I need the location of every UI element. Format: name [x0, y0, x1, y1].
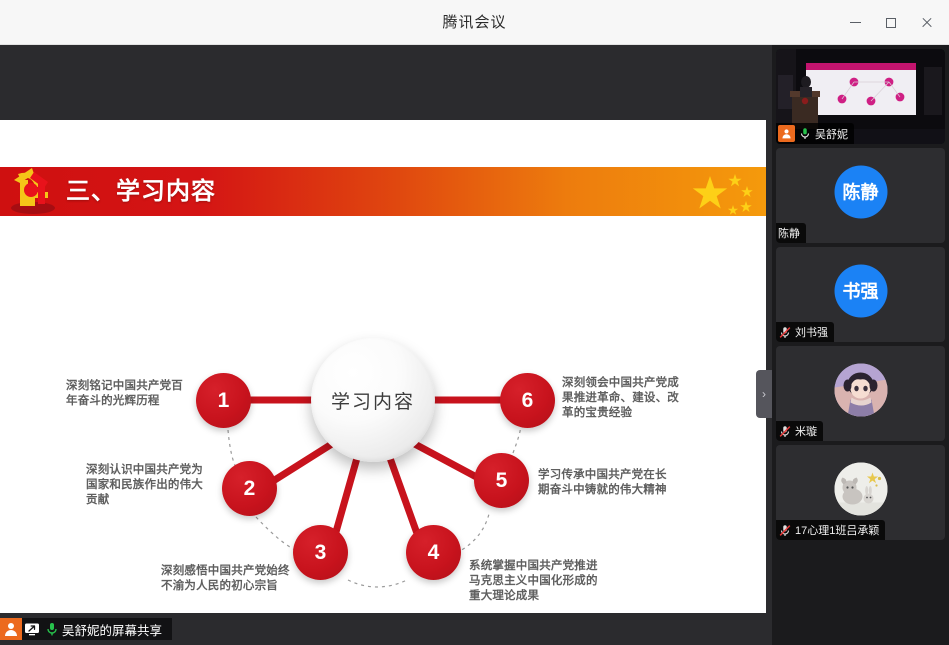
- participant-tile[interactable]: 米璇: [776, 346, 945, 441]
- shared-screen-stage[interactable]: 三、学习内容: [0, 45, 772, 645]
- mic-muted-icon: [778, 523, 792, 538]
- diagram-node-2[interactable]: 2: [222, 461, 277, 516]
- window-controls: [837, 0, 945, 45]
- close-button[interactable]: [909, 8, 945, 38]
- participant-tile[interactable]: 陈静 陈静: [776, 148, 945, 243]
- party-emblem-icon: [4, 160, 62, 218]
- screen-share-icon: [24, 621, 40, 637]
- diagram-node-4[interactable]: 4: [406, 525, 461, 580]
- minimize-icon: [850, 22, 861, 23]
- study-content-diagram: 学习内容 1 2 3 4 5 6: [0, 216, 766, 613]
- participant-name: 刘书强: [795, 324, 828, 340]
- mic-muted-icon: [778, 424, 792, 439]
- diagram-caption-5: 学习传承中国共产党在长期奋斗中铸就的伟大精神: [538, 468, 680, 498]
- presentation-slide: 三、学习内容: [0, 120, 766, 613]
- hub-label: 学习内容: [331, 387, 415, 414]
- diagram-hub: 学习内容: [311, 338, 435, 462]
- diagram-caption-1: 深刻铭记中国共产党百年奋斗的光辉历程: [66, 379, 198, 409]
- mic-on-icon: [798, 126, 812, 141]
- avatar: 书强: [834, 264, 887, 317]
- tencent-meeting-window: 腾讯会议: [0, 0, 949, 645]
- participant-name-bar: 吴舒妮: [776, 123, 854, 144]
- mic-muted-icon: [778, 325, 792, 340]
- window-title: 腾讯会议: [0, 0, 949, 45]
- host-badge-icon: [778, 125, 795, 142]
- screen-share-indicator: 吴舒妮的屏幕共享: [0, 618, 172, 640]
- participant-name-bar: 刘书强: [776, 322, 834, 342]
- node-number: 2: [244, 477, 256, 501]
- avatar: [834, 363, 887, 416]
- diagram-node-3[interactable]: 3: [293, 525, 348, 580]
- participant-name: 17心理1班吕承颖: [795, 522, 879, 538]
- avatar: 陈静: [834, 165, 887, 218]
- diagram-node-1[interactable]: 1: [196, 373, 251, 428]
- avatar: [834, 462, 887, 515]
- participant-tile[interactable]: 书强 刘书强: [776, 247, 945, 342]
- participant-name: 吴舒妮: [815, 126, 848, 142]
- mic-on-icon: [44, 621, 60, 637]
- avatar-initials: 书强: [843, 278, 879, 304]
- participant-rail[interactable]: 吴舒妮 陈静 陈静 书强 刘书强: [772, 45, 949, 645]
- diagram-caption-6: 深刻领会中国共产党成果推进革命、建设、改革的宝贵经验: [562, 376, 692, 421]
- minimize-button[interactable]: [837, 8, 873, 38]
- participant-name-bar: 17心理1班吕承颖: [776, 520, 885, 540]
- diagram-caption-3: 深刻感悟中国共产党始终不渝为人民的初心宗旨: [161, 564, 301, 594]
- avatar-initials: 陈静: [843, 179, 879, 205]
- maximize-button[interactable]: [873, 8, 909, 38]
- diagram-node-6[interactable]: 6: [500, 373, 555, 428]
- china-flag-stars-icon: [690, 172, 762, 216]
- person-icon: [0, 618, 22, 640]
- node-number: 6: [522, 389, 534, 413]
- node-number: 4: [428, 541, 440, 565]
- close-icon: [921, 17, 933, 29]
- diagram-node-5[interactable]: 5: [474, 453, 529, 508]
- maximize-icon: [886, 18, 896, 28]
- title-bar: 腾讯会议: [0, 0, 949, 45]
- node-number: 3: [315, 541, 327, 565]
- diagram-caption-2: 深刻认识中国共产党为国家和民族作出的伟大贡献: [86, 463, 220, 508]
- chevron-right-icon: ›: [762, 387, 766, 401]
- share-label: 吴舒妮的屏幕共享: [62, 620, 162, 639]
- participant-name-bar: 陈静: [776, 223, 806, 243]
- diagram-caption-4: 系统掌握中国共产党推进马克思主义中国化形成的重大理论成果: [469, 559, 611, 604]
- node-number: 5: [496, 469, 508, 493]
- participant-tile[interactable]: 17心理1班吕承颖: [776, 445, 945, 540]
- participant-name: 陈静: [778, 225, 800, 241]
- collapse-panel-button[interactable]: ›: [756, 370, 772, 418]
- node-number: 1: [218, 389, 230, 413]
- participant-name: 米璇: [795, 423, 817, 439]
- slide-title: 三、学习内容: [66, 167, 216, 216]
- participant-tile[interactable]: 吴舒妮: [776, 49, 945, 144]
- participant-name-bar: 米璇: [776, 421, 823, 441]
